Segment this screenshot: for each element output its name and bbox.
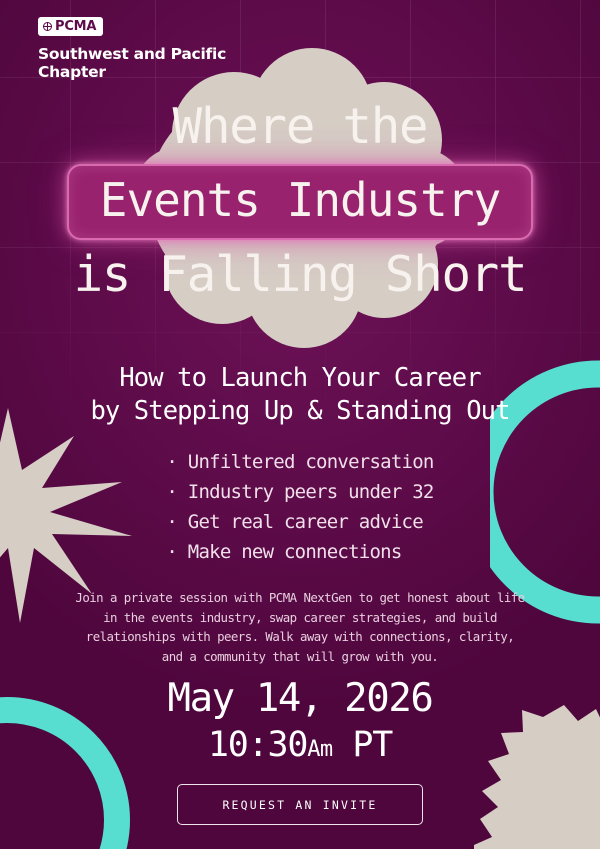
headline-highlight-box: Events Industry bbox=[67, 164, 533, 240]
list-item: Unfiltered conversation bbox=[166, 447, 433, 477]
event-time-zone: PT bbox=[333, 725, 393, 765]
globe-icon bbox=[43, 22, 52, 31]
headline-line-1: Where the bbox=[0, 96, 600, 158]
description-line-2: in the events industry, swap career stra… bbox=[62, 608, 538, 628]
event-date: May 14, 2026 bbox=[0, 675, 600, 723]
brand-block: PCMA Southwest and Pacific Chapter bbox=[38, 16, 253, 82]
subheadline: How to Launch Your Career by Stepping Up… bbox=[0, 362, 600, 428]
chapter-name: Southwest and Pacific Chapter bbox=[38, 45, 253, 82]
subheadline-line-1: How to Launch Your Career bbox=[0, 362, 600, 395]
subheadline-line-2: by Stepping Up & Standing Out bbox=[0, 395, 600, 428]
description-line-3: relationships with peers. Walk away with… bbox=[62, 627, 538, 647]
headline-line-3: is Falling Short bbox=[0, 244, 600, 306]
description-line-4: and a community that will grow with you. bbox=[62, 647, 538, 667]
headline: Where the Events Industry is Falling Sho… bbox=[0, 96, 600, 306]
list-item: Industry peers under 32 bbox=[166, 477, 433, 507]
pcma-logo: PCMA bbox=[38, 17, 103, 36]
list-item: Make new connections bbox=[166, 537, 433, 567]
list-item: Get real career advice bbox=[166, 507, 433, 537]
pcma-logo-wordmark: PCMA bbox=[55, 20, 96, 33]
description-paragraph: Join a private session with PCMA NextGen… bbox=[62, 588, 538, 666]
event-time: 10:30Am PT bbox=[0, 723, 600, 772]
benefits-list: Unfiltered conversation Industry peers u… bbox=[0, 447, 600, 567]
request-an-invite-button[interactable]: REQUEST AN INVITE bbox=[177, 784, 422, 825]
event-time-clock: 10:30 bbox=[208, 725, 307, 765]
description-line-1: Join a private session with PCMA NextGen… bbox=[62, 588, 538, 608]
event-datetime: May 14, 2026 10:30Am PT bbox=[0, 675, 600, 772]
cta-container: REQUEST AN INVITE bbox=[0, 784, 600, 825]
event-time-ampm: Am bbox=[307, 737, 332, 762]
headline-highlight-wrapper: Events Industry bbox=[67, 164, 533, 240]
event-poster: PCMA Southwest and Pacific Chapter Where… bbox=[0, 0, 600, 849]
